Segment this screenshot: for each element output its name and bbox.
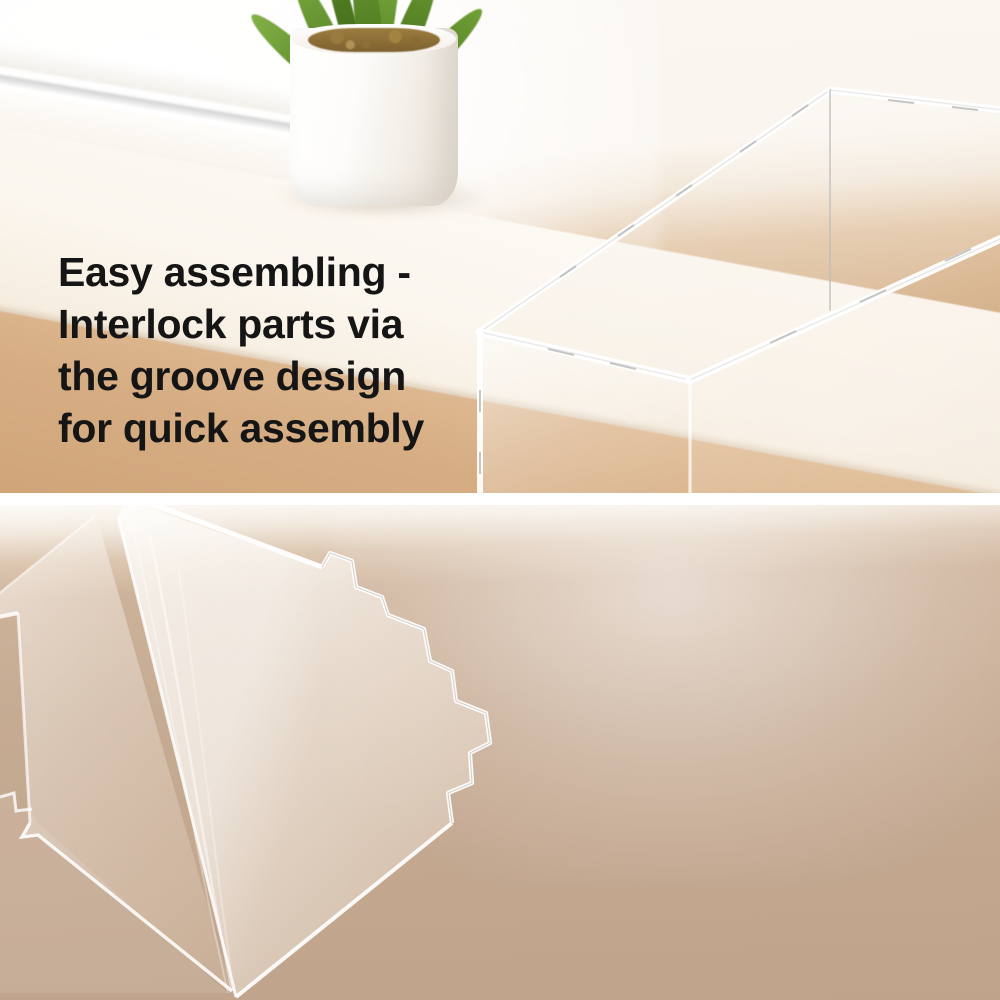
- feature-collage: Easy assembling - Interlock parts via th…: [0, 0, 1000, 1000]
- feature-panel-top: Easy assembling - Interlock parts via th…: [0, 0, 1000, 493]
- acrylic-display-case: [440, 60, 1000, 493]
- acrylic-sheets-illustration: [0, 505, 560, 1000]
- panel-divider: [0, 493, 1000, 505]
- acrylic-case-illustration: [440, 60, 1000, 493]
- plant-soil: [308, 28, 440, 52]
- plant-pot: [290, 28, 458, 206]
- feature-panel-bottom: Protective film - Double -sided protecti…: [0, 505, 1000, 1000]
- panel-top-caption: Easy assembling - Interlock parts via th…: [58, 246, 478, 454]
- acrylic-sheets-group: [0, 505, 560, 1000]
